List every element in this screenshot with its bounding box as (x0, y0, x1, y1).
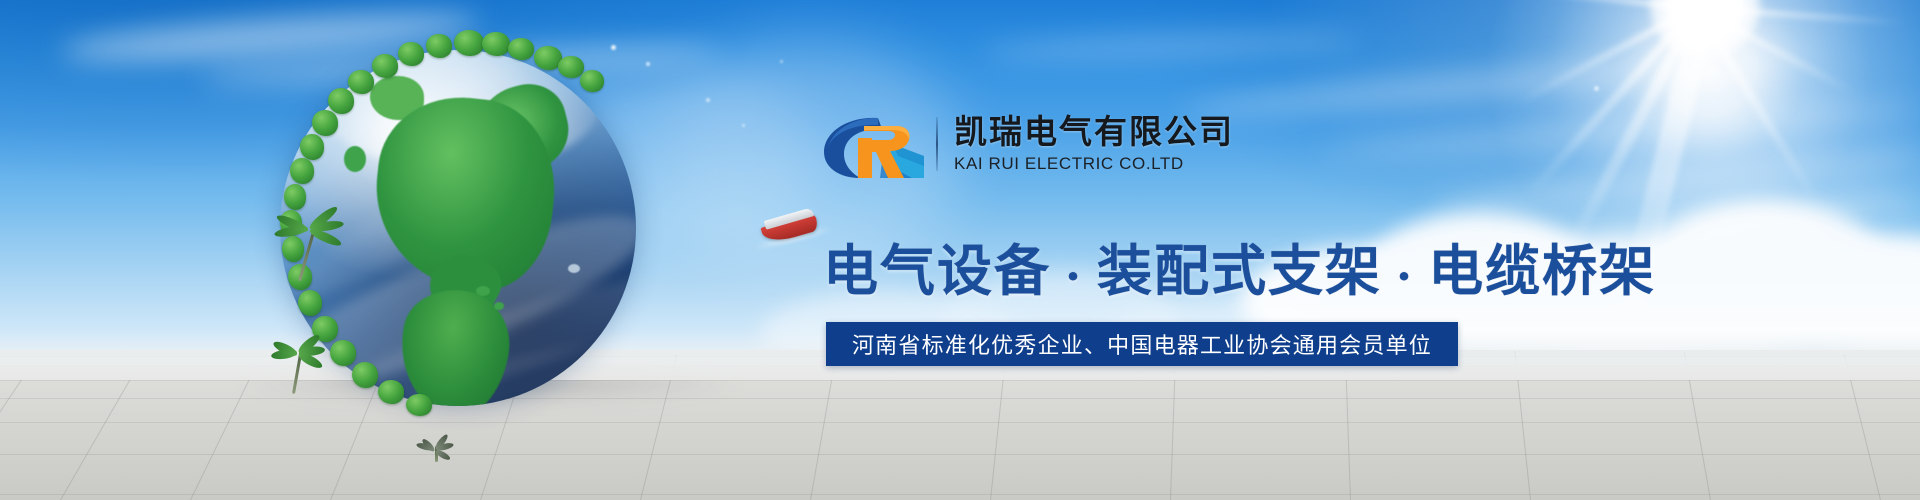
logo-text-block: 凯瑞电气有限公司 KAI RUI ELECTRIC CO.LTD (954, 114, 1234, 175)
headline-part-2: 装配式支架 (1097, 238, 1382, 303)
headline: 电气设备·装配式支架·电缆桥架 (823, 226, 1656, 306)
landmass-island-2 (476, 286, 490, 296)
company-logo[interactable]: 凯瑞电气有限公司 KAI RUI ELECTRIC CO.LTD (820, 108, 1234, 180)
landmass-island-3 (494, 302, 504, 310)
headline-separator-2: · (1382, 249, 1428, 303)
company-name-cn: 凯瑞电气有限公司 (954, 114, 1234, 151)
kairui-cr-logo-icon (820, 108, 926, 180)
headline-part-3: 电缆桥架 (1428, 238, 1656, 303)
headline-separator-1: · (1051, 249, 1097, 303)
credentials-ribbon: 河南省标准化优秀企业、中国电器工业协会通用会员单位 (826, 322, 1458, 366)
company-name-en: KAI RUI ELECTRIC CO.LTD (954, 154, 1234, 174)
landmass-island-1 (344, 146, 366, 172)
landmass-island-4 (568, 264, 580, 273)
company-banner: 凯瑞电气有限公司 KAI RUI ELECTRIC CO.LTD 电气设备·装配… (0, 0, 1920, 500)
headline-part-1: 电气设备 (823, 238, 1051, 303)
green-earth-globe (258, 28, 658, 428)
credentials-text: 河南省标准化优秀企业、中国电器工业协会通用会员单位 (852, 328, 1432, 360)
logo-divider (936, 117, 938, 171)
